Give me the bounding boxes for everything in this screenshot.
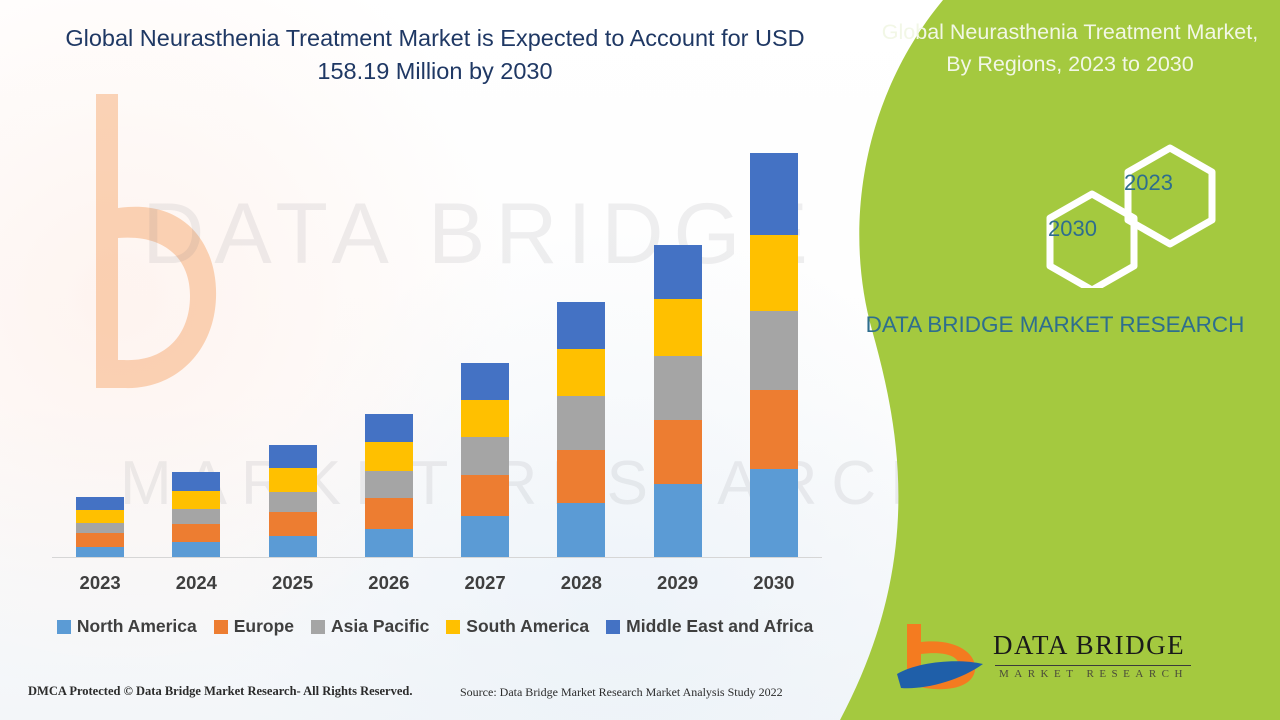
hexagon-label-2030: 2030 (1048, 216, 1097, 242)
bar-segment (172, 491, 220, 509)
legend-swatch-icon (57, 620, 71, 634)
stacked-bar (365, 414, 413, 557)
legend-label: North America (77, 616, 197, 637)
x-axis-labels: 20232024202520262027202820292030 (52, 572, 822, 594)
legend-item[interactable]: Middle East and Africa (606, 616, 813, 637)
legend-label: Middle East and Africa (626, 616, 813, 637)
legend-item[interactable]: North America (57, 616, 197, 637)
logo-divider (995, 665, 1191, 666)
bar-segment (269, 492, 317, 512)
stacked-bar (172, 472, 220, 557)
dmca-notice: DMCA Protected © Data Bridge Market Rese… (28, 684, 413, 699)
x-axis-line (52, 557, 822, 558)
brand-name: DATA BRIDGE MARKET RESEARCH (850, 308, 1260, 341)
bar-segment (365, 414, 413, 443)
bar-segment (172, 524, 220, 542)
bar-segment (76, 533, 124, 547)
legend-item[interactable]: Europe (214, 616, 294, 637)
bar-segment (750, 311, 798, 390)
bar-column (341, 150, 437, 557)
bar-column (533, 150, 629, 557)
bar-segment (750, 235, 798, 311)
x-axis-label: 2024 (148, 572, 244, 594)
bar-segment (750, 390, 798, 469)
bar-segment (461, 363, 509, 399)
bar-column (52, 150, 148, 557)
infographic-page: DATA BRIDGE MARKET RESEARCH Global Neura… (0, 0, 1280, 720)
bar-column (726, 150, 822, 557)
bar-segment (654, 245, 702, 299)
stacked-bar (750, 153, 798, 557)
x-axis-label: 2030 (726, 572, 822, 594)
stacked-bar (461, 363, 509, 557)
bar-segment (461, 437, 509, 474)
bar-segment (76, 547, 124, 557)
x-axis-label: 2025 (245, 572, 341, 594)
bar-segment (461, 475, 509, 517)
bar-segment (269, 468, 317, 492)
legend-swatch-icon (311, 620, 325, 634)
logo-subtitle: MARKET RESEARCH (999, 668, 1188, 680)
brand-panel: Global Neurasthenia Treatment Market, By… (830, 0, 1280, 720)
databridge-b-mark-icon (895, 618, 995, 698)
x-axis-label: 2027 (437, 572, 533, 594)
bar-segment (269, 445, 317, 469)
bar-column (148, 150, 244, 557)
legend-label: Asia Pacific (331, 616, 429, 637)
legend-swatch-icon (214, 620, 228, 634)
bar-segment (557, 450, 605, 504)
bar-segment (557, 302, 605, 349)
bar-segment (76, 510, 124, 523)
bar-segment (654, 299, 702, 356)
bar-column (437, 150, 533, 557)
legend-item[interactable]: South America (446, 616, 589, 637)
x-axis-label: 2023 (52, 572, 148, 594)
legend-swatch-icon (446, 620, 460, 634)
hexagon-outlines-icon (830, 128, 1280, 288)
bar-segment (365, 471, 413, 498)
bar-column (630, 150, 726, 557)
bar-segment (269, 536, 317, 557)
x-axis-label: 2029 (630, 572, 726, 594)
bar-segment (654, 420, 702, 484)
bar-segment (557, 349, 605, 396)
bar-segment (750, 153, 798, 234)
bar-segment (654, 484, 702, 557)
stacked-bar (654, 245, 702, 557)
bar-segment (365, 442, 413, 471)
bar-segment (76, 497, 124, 510)
bar-segment (750, 469, 798, 557)
bar-segment (269, 512, 317, 536)
bar-segment (654, 356, 702, 420)
bar-column (245, 150, 341, 557)
bar-segment (172, 472, 220, 490)
bar-segment (461, 516, 509, 557)
bar-segment (365, 529, 413, 557)
bar-segment (365, 498, 413, 529)
stacked-bar (76, 497, 124, 557)
legend-label: Europe (234, 616, 294, 637)
source-note: Source: Data Bridge Market Research Mark… (460, 685, 783, 700)
chart-panel: DATA BRIDGE MARKET RESEARCH Global Neura… (0, 0, 960, 720)
bar-segment (557, 503, 605, 557)
bar-segment (461, 400, 509, 437)
x-axis-label: 2028 (533, 572, 629, 594)
bar-group (52, 150, 822, 557)
legend-swatch-icon (606, 620, 620, 634)
hexagon-label-2023: 2023 (1124, 170, 1173, 196)
stacked-bar (557, 302, 605, 557)
logo-title: DATA BRIDGE (993, 630, 1185, 661)
bar-segment (172, 542, 220, 557)
bar-segment (557, 396, 605, 450)
stacked-bar (269, 445, 317, 557)
hexagon-badges: 2023 2030 (830, 128, 1280, 288)
chart-legend: North AmericaEuropeAsia PacificSouth Ame… (40, 616, 830, 637)
company-logo: DATA BRIDGE MARKET RESEARCH (895, 618, 1205, 704)
panel-title: Global Neurasthenia Treatment Market, By… (870, 16, 1270, 80)
bar-segment (76, 523, 124, 534)
legend-item[interactable]: Asia Pacific (311, 616, 429, 637)
x-axis-label: 2026 (341, 572, 437, 594)
page-title: Global Neurasthenia Treatment Market is … (60, 22, 810, 88)
legend-label: South America (466, 616, 589, 637)
bar-segment (172, 509, 220, 524)
plot-area (52, 150, 822, 558)
